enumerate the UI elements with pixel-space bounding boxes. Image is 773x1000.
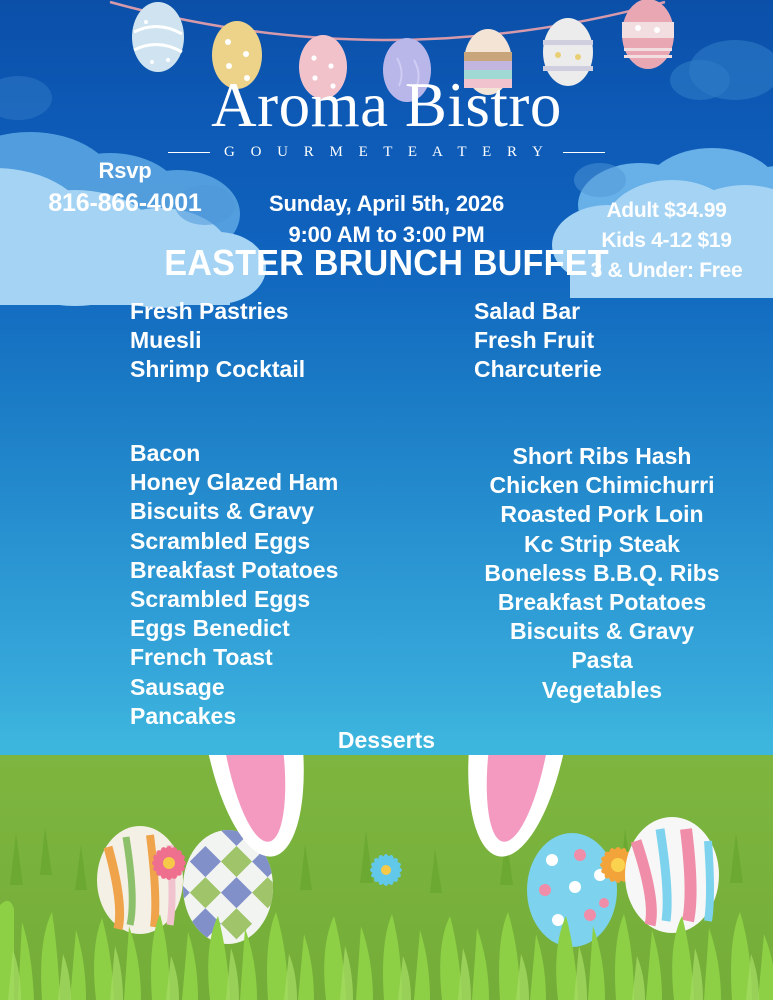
menu-left-main-item: Bacon: [130, 442, 460, 465]
price-adult: Adult $34.99: [560, 196, 773, 226]
egg-orange-striped: [97, 826, 183, 934]
menu-left-top-item: Shrimp Cocktail: [130, 358, 450, 381]
tagline: G O U R M E T E A T E R Y: [224, 144, 549, 161]
menu-right-top: Salad BarFresh FruitCharcuterie: [474, 300, 764, 388]
tagline-rule-left: [168, 152, 210, 154]
grass-ground: [0, 755, 773, 1000]
menu-right-top-item: Fresh Fruit: [474, 329, 764, 352]
menu-right-main-item: Roasted Pork Loin: [452, 503, 752, 526]
menu-right-main-item: Chicken Chimichurri: [452, 474, 752, 497]
menu-left-top-item: Fresh Pastries: [130, 300, 450, 323]
menu-right-main-item: Boneless B.B.Q. Ribs: [452, 562, 752, 585]
rsvp-label: Rsvp: [0, 155, 250, 186]
menu-right-top-item: Salad Bar: [474, 300, 764, 323]
menu-right-main-item: Breakfast Potatoes: [452, 591, 752, 614]
desserts-label: Desserts: [0, 727, 773, 754]
bunting-egg-light-blue-swirl: [132, 2, 184, 72]
menu-left-main: BaconHoney Glazed HamBiscuits & GravyScr…: [130, 442, 460, 734]
menu-right-main-item: Pasta: [452, 649, 752, 672]
egg-blue-polka-dot: [527, 833, 617, 947]
menu-left-main-item: Biscuits & Gravy: [130, 500, 460, 523]
menu-left-main-item: Pancakes: [130, 705, 460, 728]
menu-left-top: Fresh PastriesMuesliShrimp Cocktail: [130, 300, 450, 388]
menu-left-main-item: Sausage: [130, 676, 460, 699]
menu-left-main-item: Honey Glazed Ham: [130, 471, 460, 494]
page-title: Aroma Bistro: [0, 74, 773, 137]
bunting-egg-pink-hearts: [622, 0, 674, 69]
menu-left-main-item: Scrambled Eggs: [130, 530, 460, 553]
headline: EASTER BRUNCH BUFFET: [19, 245, 753, 281]
menu-right-main-item: Vegetables: [452, 679, 752, 702]
menu-right-main-item: Kc Strip Steak: [452, 533, 752, 556]
ground-decor: [0, 755, 773, 1000]
menu-left-main-item: Eggs Benedict: [130, 617, 460, 640]
menu-left-top-item: Muesli: [130, 329, 450, 352]
menu-left-main-item: Breakfast Potatoes: [130, 559, 460, 582]
menu-left-main-item: Scrambled Eggs: [130, 588, 460, 611]
menu-right-main: Short Ribs HashChicken ChimichurriRoaste…: [452, 445, 752, 708]
menu-right-main-item: Short Ribs Hash: [452, 445, 752, 468]
tagline-rule-right: [563, 152, 605, 154]
egg-pink-blue-striped: [625, 817, 719, 933]
menu-right-main-item: Biscuits & Gravy: [452, 620, 752, 643]
flower-blue: [369, 853, 402, 886]
menu-right-top-item: Charcuterie: [474, 358, 764, 381]
menu-left-main-item: French Toast: [130, 646, 460, 669]
easter-brunch-flyer: Aroma Bistro G O U R M E T E A T E R Y R…: [0, 0, 773, 1000]
